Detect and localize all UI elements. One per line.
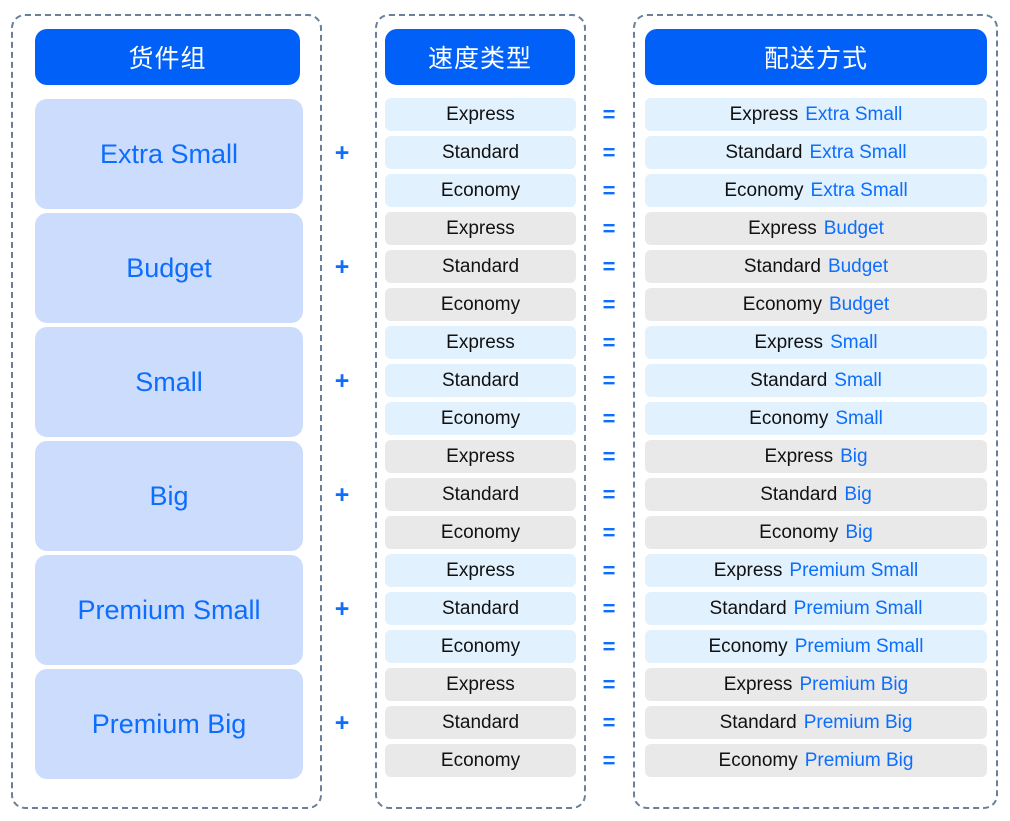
speed-type-label: Standard	[442, 712, 519, 734]
equals-operator: =	[596, 216, 622, 242]
plus-operator: +	[329, 596, 355, 622]
equals-operator: =	[596, 292, 622, 318]
delivery-method-group-label: Big	[845, 522, 872, 544]
delivery-method-speed-label: Economy	[719, 750, 798, 772]
delivery-method-speed-label: Economy	[743, 294, 822, 316]
equals-operator: =	[596, 748, 622, 774]
delivery-method-group-label: Small	[835, 408, 883, 430]
delivery-method-row[interactable]: ExpressPremium Big	[645, 668, 987, 701]
delivery-method-row[interactable]: EconomyBig	[645, 516, 987, 549]
delivery-method-row[interactable]: EconomyExtra Small	[645, 174, 987, 207]
delivery-method-group-label: Premium Big	[799, 674, 908, 696]
delivery-method-speed-label: Economy	[749, 408, 828, 430]
equals-operator: =	[596, 558, 622, 584]
delivery-method-row[interactable]: EconomyPremium Small	[645, 630, 987, 663]
delivery-method-speed-label: Express	[724, 674, 793, 696]
equals-operator: =	[596, 102, 622, 128]
delivery-method-row[interactable]: EconomySmall	[645, 402, 987, 435]
speed-type-label: Express	[446, 332, 515, 354]
plus-operator: +	[329, 482, 355, 508]
speed-type-label: Express	[446, 446, 515, 468]
speed-type-row[interactable]: Express	[385, 212, 576, 245]
plus-operator: +	[329, 140, 355, 166]
shipment-group-label: Big	[149, 481, 188, 512]
shipment-group-card[interactable]: Premium Small	[35, 555, 303, 665]
delivery-method-row[interactable]: StandardBudget	[645, 250, 987, 283]
speed-type-row[interactable]: Express	[385, 554, 576, 587]
delivery-method-speed-label: Express	[754, 332, 823, 354]
speed-type-label: Standard	[442, 598, 519, 620]
speed-type-row[interactable]: Standard	[385, 250, 576, 283]
delivery-method-speed-label: Standard	[725, 142, 802, 164]
plus-operator: +	[329, 368, 355, 394]
delivery-method-speed-label: Standard	[720, 712, 797, 734]
delivery-method-row[interactable]: ExpressBudget	[645, 212, 987, 245]
delivery-method-group-label: Premium Small	[789, 560, 918, 582]
equals-operator: =	[596, 710, 622, 736]
speed-type-label: Economy	[441, 522, 520, 544]
speed-type-label: Economy	[441, 180, 520, 202]
shipment-group-card[interactable]: Small	[35, 327, 303, 437]
shipment-group-card[interactable]: Extra Small	[35, 99, 303, 209]
shipment-group-label: Extra Small	[100, 139, 238, 170]
speed-type-row[interactable]: Economy	[385, 630, 576, 663]
shipment-group-card[interactable]: Premium Big	[35, 669, 303, 779]
shipment-group-card[interactable]: Big	[35, 441, 303, 551]
speed-type-row[interactable]: Standard	[385, 478, 576, 511]
speed-type-label: Express	[446, 218, 515, 240]
speed-type-label: Express	[446, 674, 515, 696]
delivery-method-group-label: Big	[844, 484, 871, 506]
delivery-method-group-label: Budget	[828, 256, 888, 278]
equals-operator: =	[596, 482, 622, 508]
speed-type-label: Economy	[441, 636, 520, 658]
delivery-method-row[interactable]: ExpressBig	[645, 440, 987, 473]
delivery-method-group-label: Extra Small	[805, 104, 902, 126]
delivery-method-speed-label: Express	[714, 560, 783, 582]
equals-operator: =	[596, 368, 622, 394]
delivery-method-group-label: Budget	[829, 294, 889, 316]
equals-operator: =	[596, 254, 622, 280]
speed-type-label: Express	[446, 560, 515, 582]
delivery-method-speed-label: Standard	[744, 256, 821, 278]
equals-operator: =	[596, 140, 622, 166]
equals-operator: =	[596, 634, 622, 660]
delivery-methods-header: 配送方式	[645, 29, 987, 85]
delivery-method-group-label: Premium Big	[805, 750, 914, 772]
speed-type-label: Economy	[441, 294, 520, 316]
speed-types-header: 速度类型	[385, 29, 575, 85]
delivery-method-speed-label: Standard	[750, 370, 827, 392]
speed-type-row[interactable]: Economy	[385, 402, 576, 435]
delivery-method-row[interactable]: ExpressSmall	[645, 326, 987, 359]
delivery-method-group-label: Premium Small	[795, 636, 924, 658]
speed-type-label: Standard	[442, 370, 519, 392]
delivery-method-row[interactable]: EconomyPremium Big	[645, 744, 987, 777]
delivery-method-group-label: Extra Small	[809, 142, 906, 164]
delivery-method-row[interactable]: StandardPremium Small	[645, 592, 987, 625]
delivery-method-speed-label: Economy	[724, 180, 803, 202]
delivery-method-row[interactable]: ExpressPremium Small	[645, 554, 987, 587]
speed-type-label: Standard	[442, 256, 519, 278]
equals-operator: =	[596, 178, 622, 204]
delivery-method-speed-label: Standard	[760, 484, 837, 506]
shipment-groups-header: 货件组	[35, 29, 300, 85]
shipment-group-label: Budget	[126, 253, 212, 284]
speed-type-row[interactable]: Express	[385, 98, 576, 131]
equals-operator: =	[596, 520, 622, 546]
equals-operator: =	[596, 330, 622, 356]
speed-type-label: Standard	[442, 142, 519, 164]
shipment-group-label: Premium Big	[92, 709, 247, 740]
delivery-method-speed-label: Economy	[708, 636, 787, 658]
plus-operator: +	[329, 710, 355, 736]
delivery-method-speed-label: Economy	[759, 522, 838, 544]
speed-type-label: Express	[446, 104, 515, 126]
equals-operator: =	[596, 672, 622, 698]
equals-operator: =	[596, 444, 622, 470]
speed-type-row[interactable]: Express	[385, 440, 576, 473]
speed-type-label: Standard	[442, 484, 519, 506]
plus-operator: +	[329, 254, 355, 280]
delivery-method-group-label: Small	[834, 370, 882, 392]
speed-type-label: Economy	[441, 750, 520, 772]
delivery-method-group-label: Big	[840, 446, 867, 468]
delivery-method-row[interactable]: StandardPremium Big	[645, 706, 987, 739]
delivery-method-group-label: Budget	[824, 218, 884, 240]
speed-type-row[interactable]: Standard	[385, 364, 576, 397]
delivery-method-row[interactable]: StandardExtra Small	[645, 136, 987, 169]
delivery-method-group-label: Premium Big	[804, 712, 913, 734]
delivery-method-row[interactable]: StandardSmall	[645, 364, 987, 397]
delivery-method-speed-label: Standard	[710, 598, 787, 620]
delivery-method-speed-label: Express	[730, 104, 799, 126]
speed-type-row[interactable]: Economy	[385, 174, 576, 207]
speed-type-row[interactable]: Economy	[385, 744, 576, 777]
speed-type-row[interactable]: Express	[385, 326, 576, 359]
speed-type-row[interactable]: Economy	[385, 516, 576, 549]
delivery-method-group-label: Extra Small	[811, 180, 908, 202]
delivery-method-row[interactable]: StandardBig	[645, 478, 987, 511]
equals-operator: =	[596, 406, 622, 432]
delivery-method-row[interactable]: ExpressExtra Small	[645, 98, 987, 131]
delivery-method-row[interactable]: EconomyBudget	[645, 288, 987, 321]
delivery-method-group-label: Small	[830, 332, 878, 354]
delivery-method-speed-label: Express	[748, 218, 817, 240]
speed-type-row[interactable]: Express	[385, 668, 576, 701]
speed-type-row[interactable]: Standard	[385, 706, 576, 739]
delivery-method-group-label: Premium Small	[794, 598, 923, 620]
shipment-group-card[interactable]: Budget	[35, 213, 303, 323]
speed-type-row[interactable]: Economy	[385, 288, 576, 321]
speed-type-label: Economy	[441, 408, 520, 430]
shipment-group-label: Small	[135, 367, 203, 398]
speed-type-row[interactable]: Standard	[385, 592, 576, 625]
shipment-group-label: Premium Small	[77, 595, 260, 626]
delivery-method-speed-label: Express	[764, 446, 833, 468]
speed-type-row[interactable]: Standard	[385, 136, 576, 169]
equals-operator: =	[596, 596, 622, 622]
